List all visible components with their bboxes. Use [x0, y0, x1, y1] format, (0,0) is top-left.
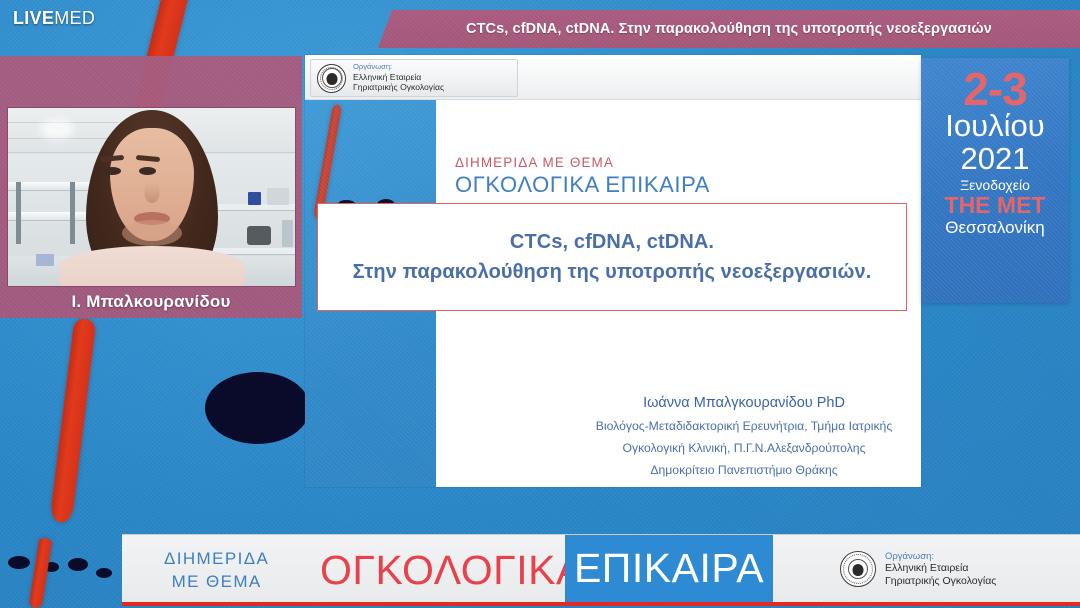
event-hotel-label: Ξενοδοχείο — [960, 177, 1030, 193]
slide-header: Οργάνωση: Ελληνική Εταιρεία Γηριατρικής … — [305, 55, 921, 100]
event-date-panel: 2-3 Ιουλίου 2021 Ξενοδοχείο THE MET Θεσσ… — [921, 58, 1069, 303]
livemed-logo-bold: LIVE — [13, 8, 54, 28]
event-venue-name: THE MET — [945, 193, 1046, 218]
speaker-eye — [139, 167, 156, 175]
slide-speaker-block: Ιωάννα Μπαλγκουρανίδου PhD Βιολόγος-Μετα… — [567, 395, 921, 477]
speaker-eye — [104, 167, 121, 175]
organizer-badge: Οργάνωση: Ελληνική Εταιρεία Γηριατρικής … — [310, 59, 518, 97]
shelf-item — [282, 220, 293, 247]
event-footer-banner: ΔΙΗΜΕΡΙΔΑ ΜΕ ΘΕΜΑ ΟΓΚΟΛΟΓΙΚΑ ΕΠΙΚΑΙΡΑ Ορ… — [122, 534, 1080, 602]
speaker-chin — [122, 220, 182, 246]
paint-blob — [44, 562, 59, 572]
conference-kicker: ΔΙΗΜΕΡΙΔΑ ΜΕ ΘΕΜΑ — [455, 155, 614, 170]
livemed-logo: LIVEMED — [13, 8, 95, 29]
organizer-name-line1: Ελληνική Εταιρεία — [353, 72, 444, 82]
slide-speaker-role: Βιολόγος-Μεταδιδακτορική Ερευνήτρια, Τμή… — [596, 419, 892, 433]
footer-kicker: ΔΙΗΜΕΡΙΔΑ ΜΕ ΘΕΜΑ — [164, 548, 269, 594]
organizer-text: Οργάνωση: Ελληνική Εταιρεία Γηριατρικής … — [353, 63, 444, 92]
slide-title-line1: CTCs, cfDNA, ctDNA. — [510, 231, 714, 254]
paint-blob — [8, 556, 30, 569]
speaker-name-bar: Ι. Μπαλκουρανίδου — [0, 286, 302, 318]
speaker-shoulders — [59, 246, 244, 286]
slide-title-line2: Στην παρακολούθηση της υποτροπής νεοεξερ… — [353, 261, 872, 284]
event-date-range: 2-3 — [963, 66, 1026, 112]
slide-title-box: CTCs, cfDNA, ctDNA. Στην παρακολούθηση τ… — [317, 203, 907, 311]
speaker-name-label: Ι. Μπαλκουρανίδου — [71, 292, 230, 312]
footer-organizer-label: Οργάνωση: — [885, 551, 996, 562]
footer-organizer: Οργάνωση: Ελληνική Εταιρεία Γηριατρικής … — [840, 551, 996, 587]
footer-word-oncologika: ΟΓΚΟΛΟΓΙΚΑ — [320, 547, 584, 594]
shelf-post — [16, 182, 21, 244]
slide-speaker-clinic: Ογκολογική Κλινική, Π.Γ.Ν.Αλεξανδρούπολη… — [623, 441, 866, 455]
presentation-slide[interactable]: Οργάνωση: Ελληνική Εταιρεία Γηριατρικής … — [305, 55, 921, 487]
footer-organizer-name2: Γηριατρικής Ογκολογίας — [885, 575, 996, 587]
conference-title: ΟΓΚΟΛΟΓΙΚΑ ΕΠΙΚΑΙΡΑ — [455, 172, 710, 198]
event-city: Θεσσαλονίκη — [945, 218, 1045, 238]
footer-kicker-line2: ΜΕ ΘΕΜΑ — [164, 571, 269, 594]
desk-item — [36, 254, 54, 266]
slide-speaker-name: Ιωάννα Μπαλγκουρανίδου PhD — [643, 395, 845, 411]
ceiling-light — [44, 124, 70, 134]
organizer-name-line2: Γηριατρικής Ογκολογίας — [353, 82, 444, 92]
event-month: Ιουλίου — [945, 110, 1044, 143]
session-title-bar: CTCs, cfDNA, ctDNA. Στην παρακολούθηση τ… — [378, 10, 1080, 48]
event-year: 2021 — [961, 143, 1030, 176]
footer-kicker-line1: ΔΙΗΜΕΡΙΔΑ — [164, 548, 269, 571]
footer-word-epikaira-box: ΕΠΙΚΑΙΡΑ — [565, 535, 773, 602]
footer-organizer-name1: Ελληνική Εταιρεία — [885, 562, 996, 574]
paint-blob — [96, 568, 112, 578]
shelf-item — [247, 226, 271, 245]
slide-speaker-university: Δημοκρίτειο Πανεπιστήμιο Θράκης — [650, 463, 837, 477]
shelf-item — [248, 192, 261, 205]
shelf-item — [267, 188, 289, 205]
session-title-text: CTCs, cfDNA, ctDNA. Στην παρακολούθηση τ… — [466, 21, 992, 37]
speaker-video-panel[interactable]: Ι. Μπαλκουρανίδου — [0, 56, 302, 318]
society-seal-icon — [317, 64, 346, 93]
speaker-webcam-feed[interactable] — [8, 108, 295, 286]
paint-blob — [205, 372, 310, 444]
speaker-nose — [144, 183, 159, 203]
organizer-label: Οργάνωση: — [353, 63, 444, 72]
shelf-post — [70, 182, 75, 244]
brush-stroke — [50, 317, 97, 523]
brush-stroke — [29, 537, 53, 608]
footer-organizer-text: Οργάνωση: Ελληνική Εταιρεία Γηριατρικής … — [885, 551, 996, 587]
society-seal-icon — [840, 551, 876, 587]
footer-word-epikaira: ΕΠΙΚΑΙΡΑ — [574, 545, 764, 592]
ceiling-line — [8, 122, 118, 123]
livemed-logo-thin: MED — [54, 8, 95, 28]
paint-blob — [68, 558, 88, 571]
